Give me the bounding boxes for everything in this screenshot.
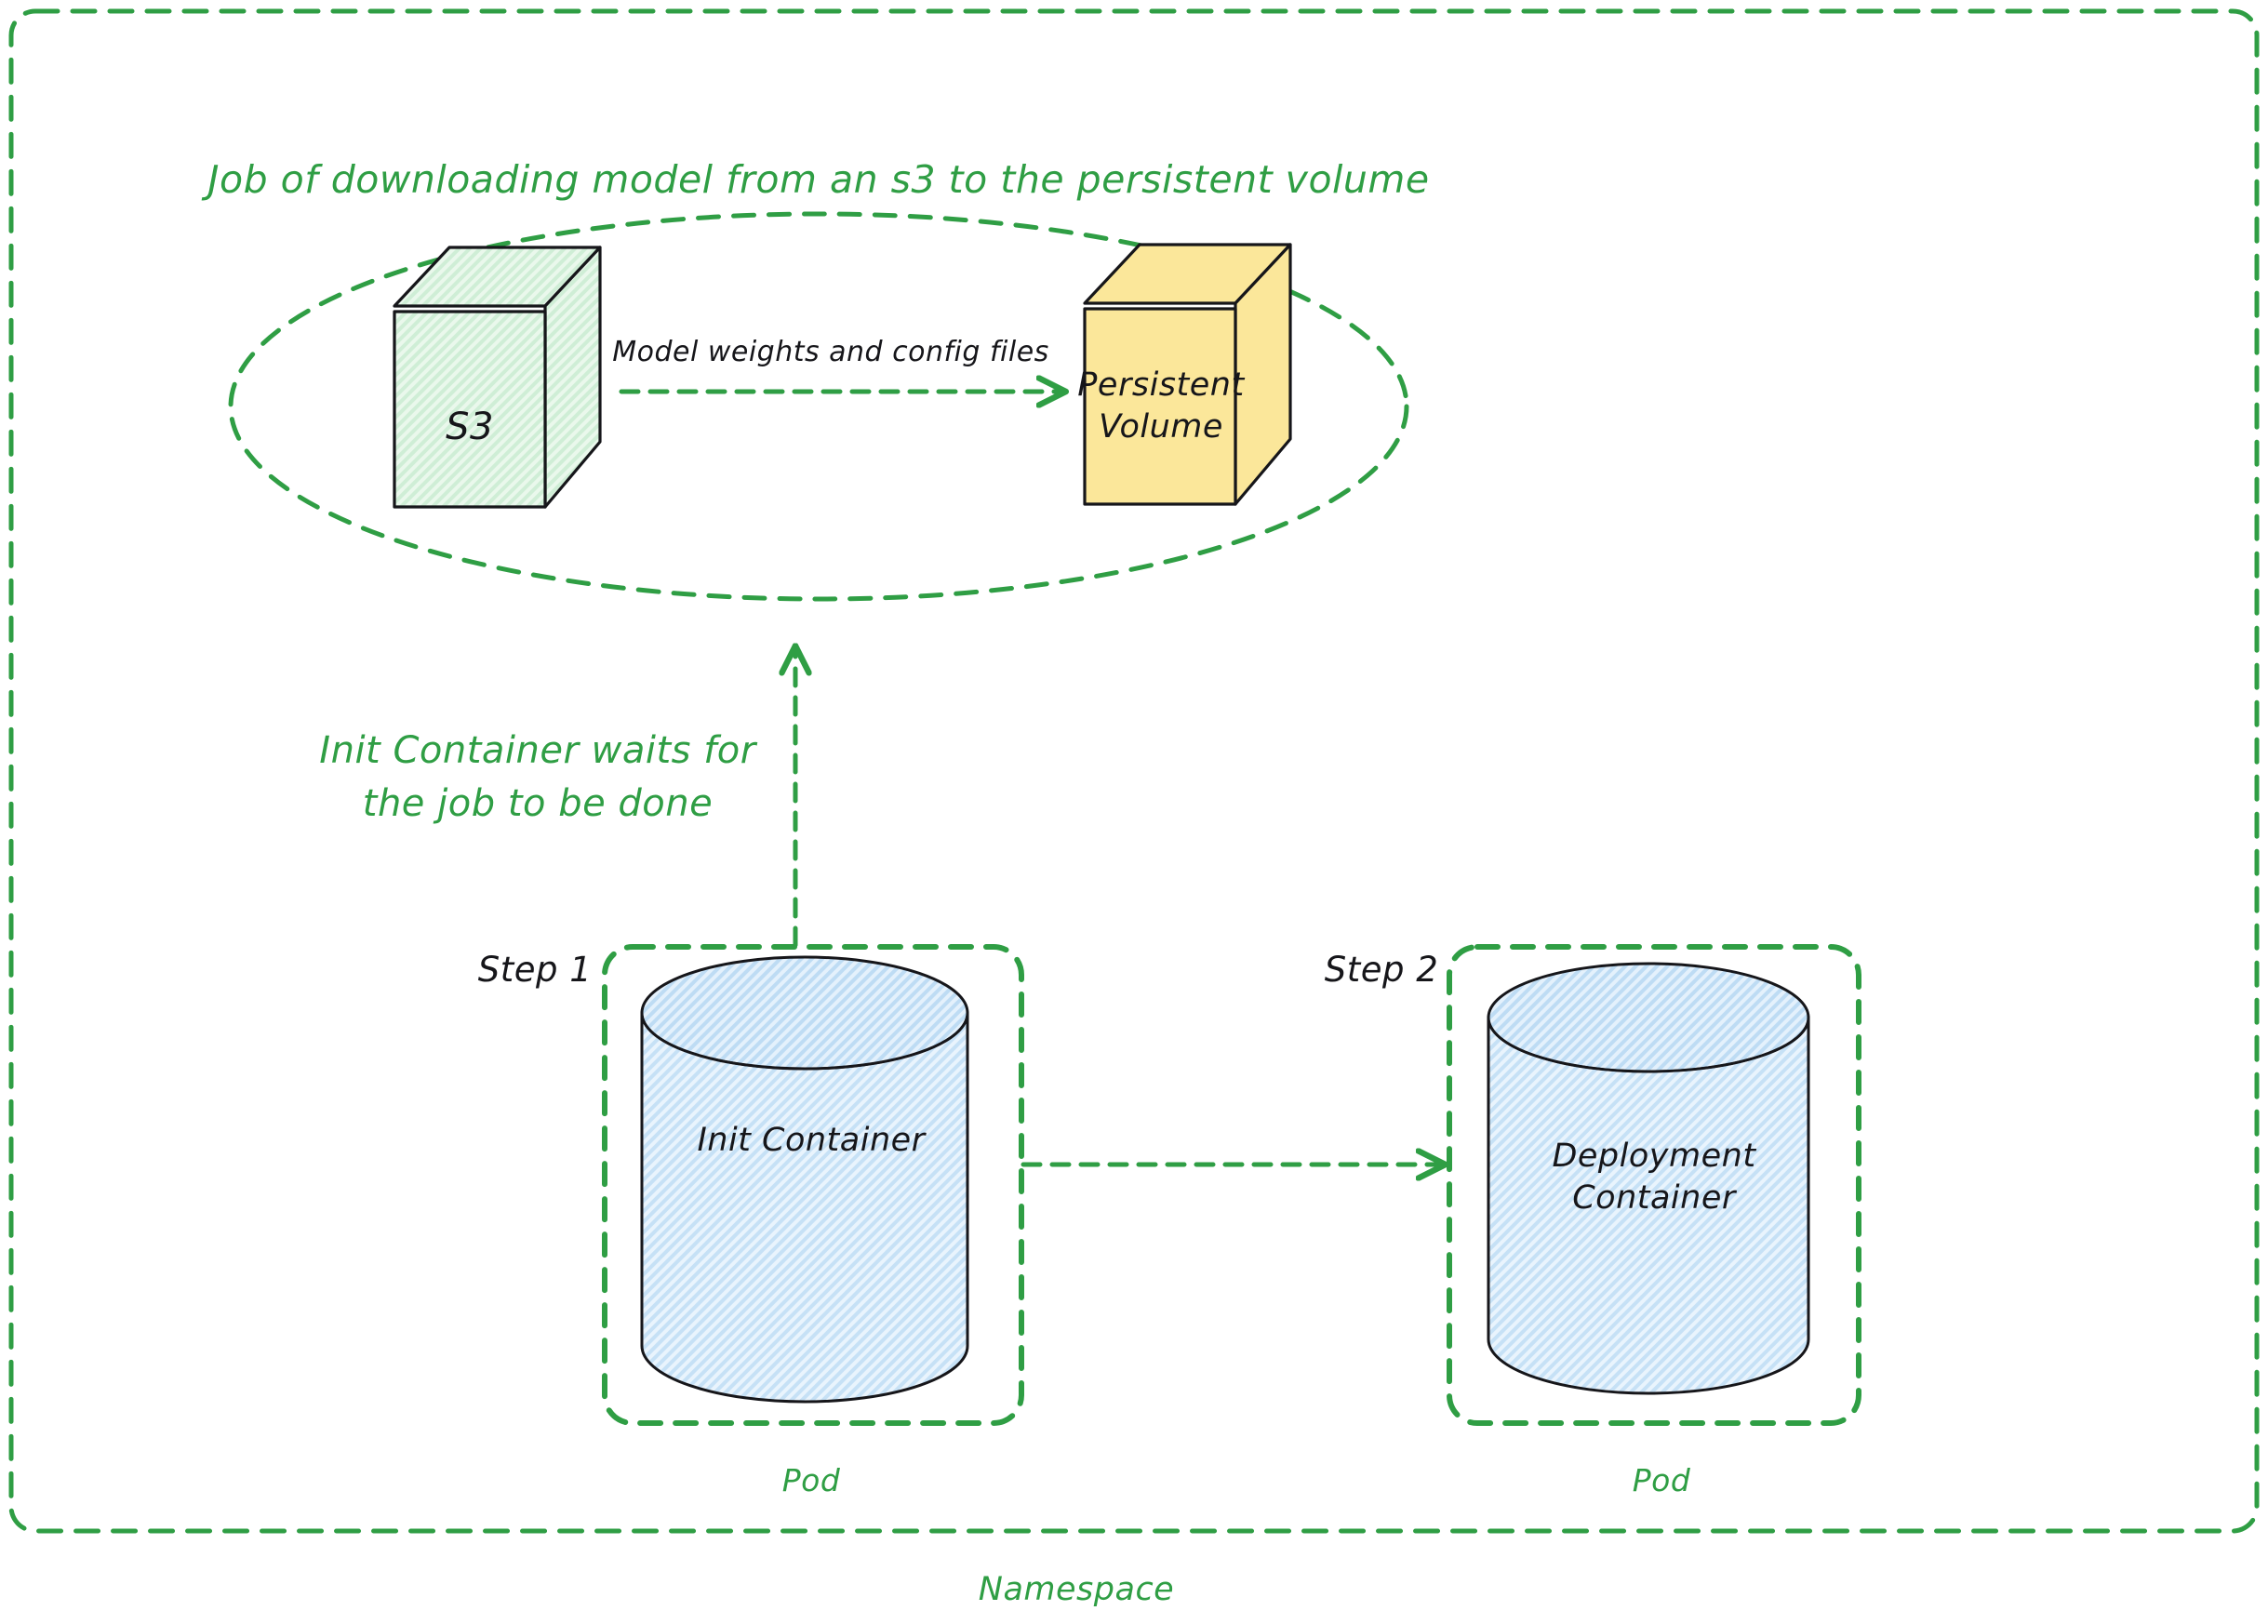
s3-cube-label: S3 bbox=[446, 405, 494, 450]
namespace-label: Namespace bbox=[979, 1570, 1174, 1610]
model-transfer-edge-label: Model weights and config files bbox=[612, 336, 1049, 370]
pod-2-label: Pod bbox=[1633, 1462, 1691, 1499]
deployment-container-label-line1: Deployment bbox=[1552, 1137, 1755, 1177]
pod-1-label: Pod bbox=[782, 1462, 841, 1499]
init-container-label: Init Container bbox=[697, 1121, 925, 1161]
s3-cube-shape bbox=[394, 247, 600, 507]
diagram-graphics bbox=[0, 0, 2268, 1624]
job-group-title: Job of downloading model from an s3 to t… bbox=[207, 156, 1429, 203]
deployment-container-label-line2: Container bbox=[1572, 1178, 1736, 1218]
step-1-label: Step 1 bbox=[478, 949, 593, 991]
diagram-canvas: Job of downloading model from an s3 to t… bbox=[0, 0, 2268, 1624]
init-waits-label-line1: Init Container waits for bbox=[319, 728, 755, 774]
persistent-volume-label-line1: Persistent bbox=[1077, 366, 1244, 406]
init-container-shape bbox=[642, 957, 967, 1402]
step-2-label: Step 2 bbox=[1325, 949, 1439, 991]
init-waits-label-line2: the job to be done bbox=[363, 781, 713, 827]
persistent-volume-label-line2: Volume bbox=[1099, 407, 1223, 447]
